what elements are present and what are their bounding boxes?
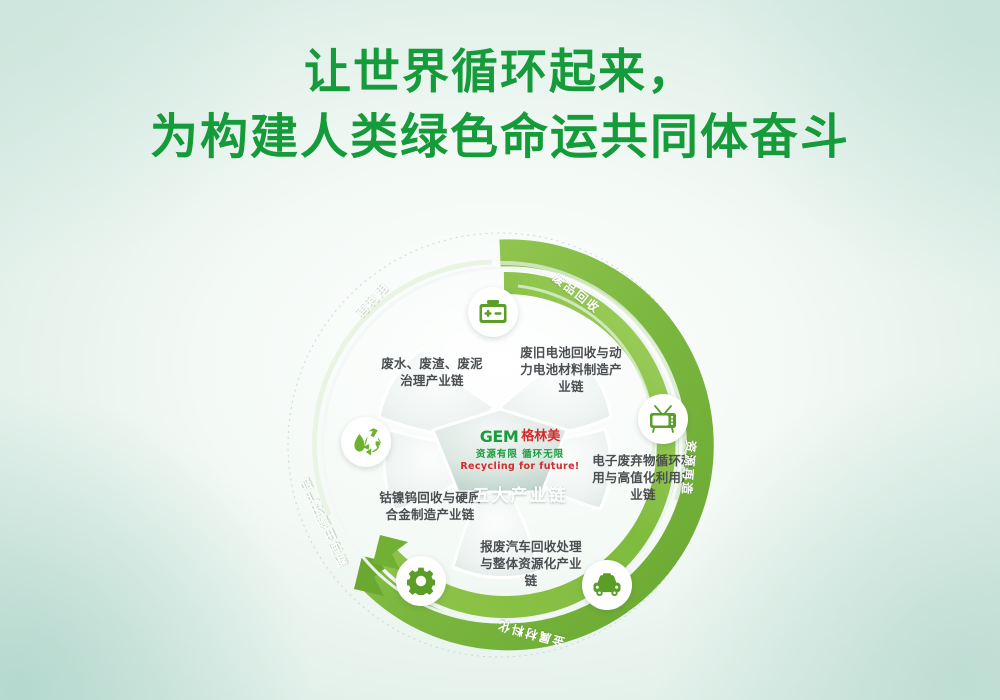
gear-icon-bubble [396, 556, 446, 606]
logo-wordmark-row: GEM 格林美 [450, 428, 590, 445]
segment-label-battery: 废旧电池回收与动力电池材料制造产业链 [517, 344, 625, 395]
battery-icon [478, 299, 508, 325]
gear-icon [407, 567, 435, 595]
tv-icon-bubble [638, 394, 688, 444]
headline-line-1: 让世界循环起来， [0, 44, 1000, 102]
water-recycle-icon [351, 428, 381, 456]
logo-chinese-name: 格林美 [521, 430, 560, 444]
segment-label-water: 废水、废渣、废泥治理产业链 [378, 355, 486, 389]
logo-gem-mark: GEM [480, 429, 518, 445]
logo-slogan-cn: 资源有限 循环无限 [450, 446, 590, 460]
segment-label-vehicle: 报废汽车回收处理与整体资源化产业链 [477, 538, 585, 589]
car-icon [592, 573, 622, 597]
page-title: 让世界循环起来， 为构建人类绿色命运共同体奋斗 [0, 44, 1000, 166]
tv-icon [648, 405, 678, 433]
water-recycle-icon-bubble [341, 417, 391, 467]
logo-slogan-en: Recycling for future! [450, 461, 590, 472]
core-title: 五大产业链 [450, 481, 590, 506]
battery-icon-bubble [468, 287, 518, 337]
car-icon-bubble [582, 560, 632, 610]
headline-line-2: 为构建人类绿色命运共同体奋斗 [0, 108, 1000, 166]
gem-logo: GEM 格林美 资源有限 循环无限 Recycling for future! [450, 428, 590, 472]
